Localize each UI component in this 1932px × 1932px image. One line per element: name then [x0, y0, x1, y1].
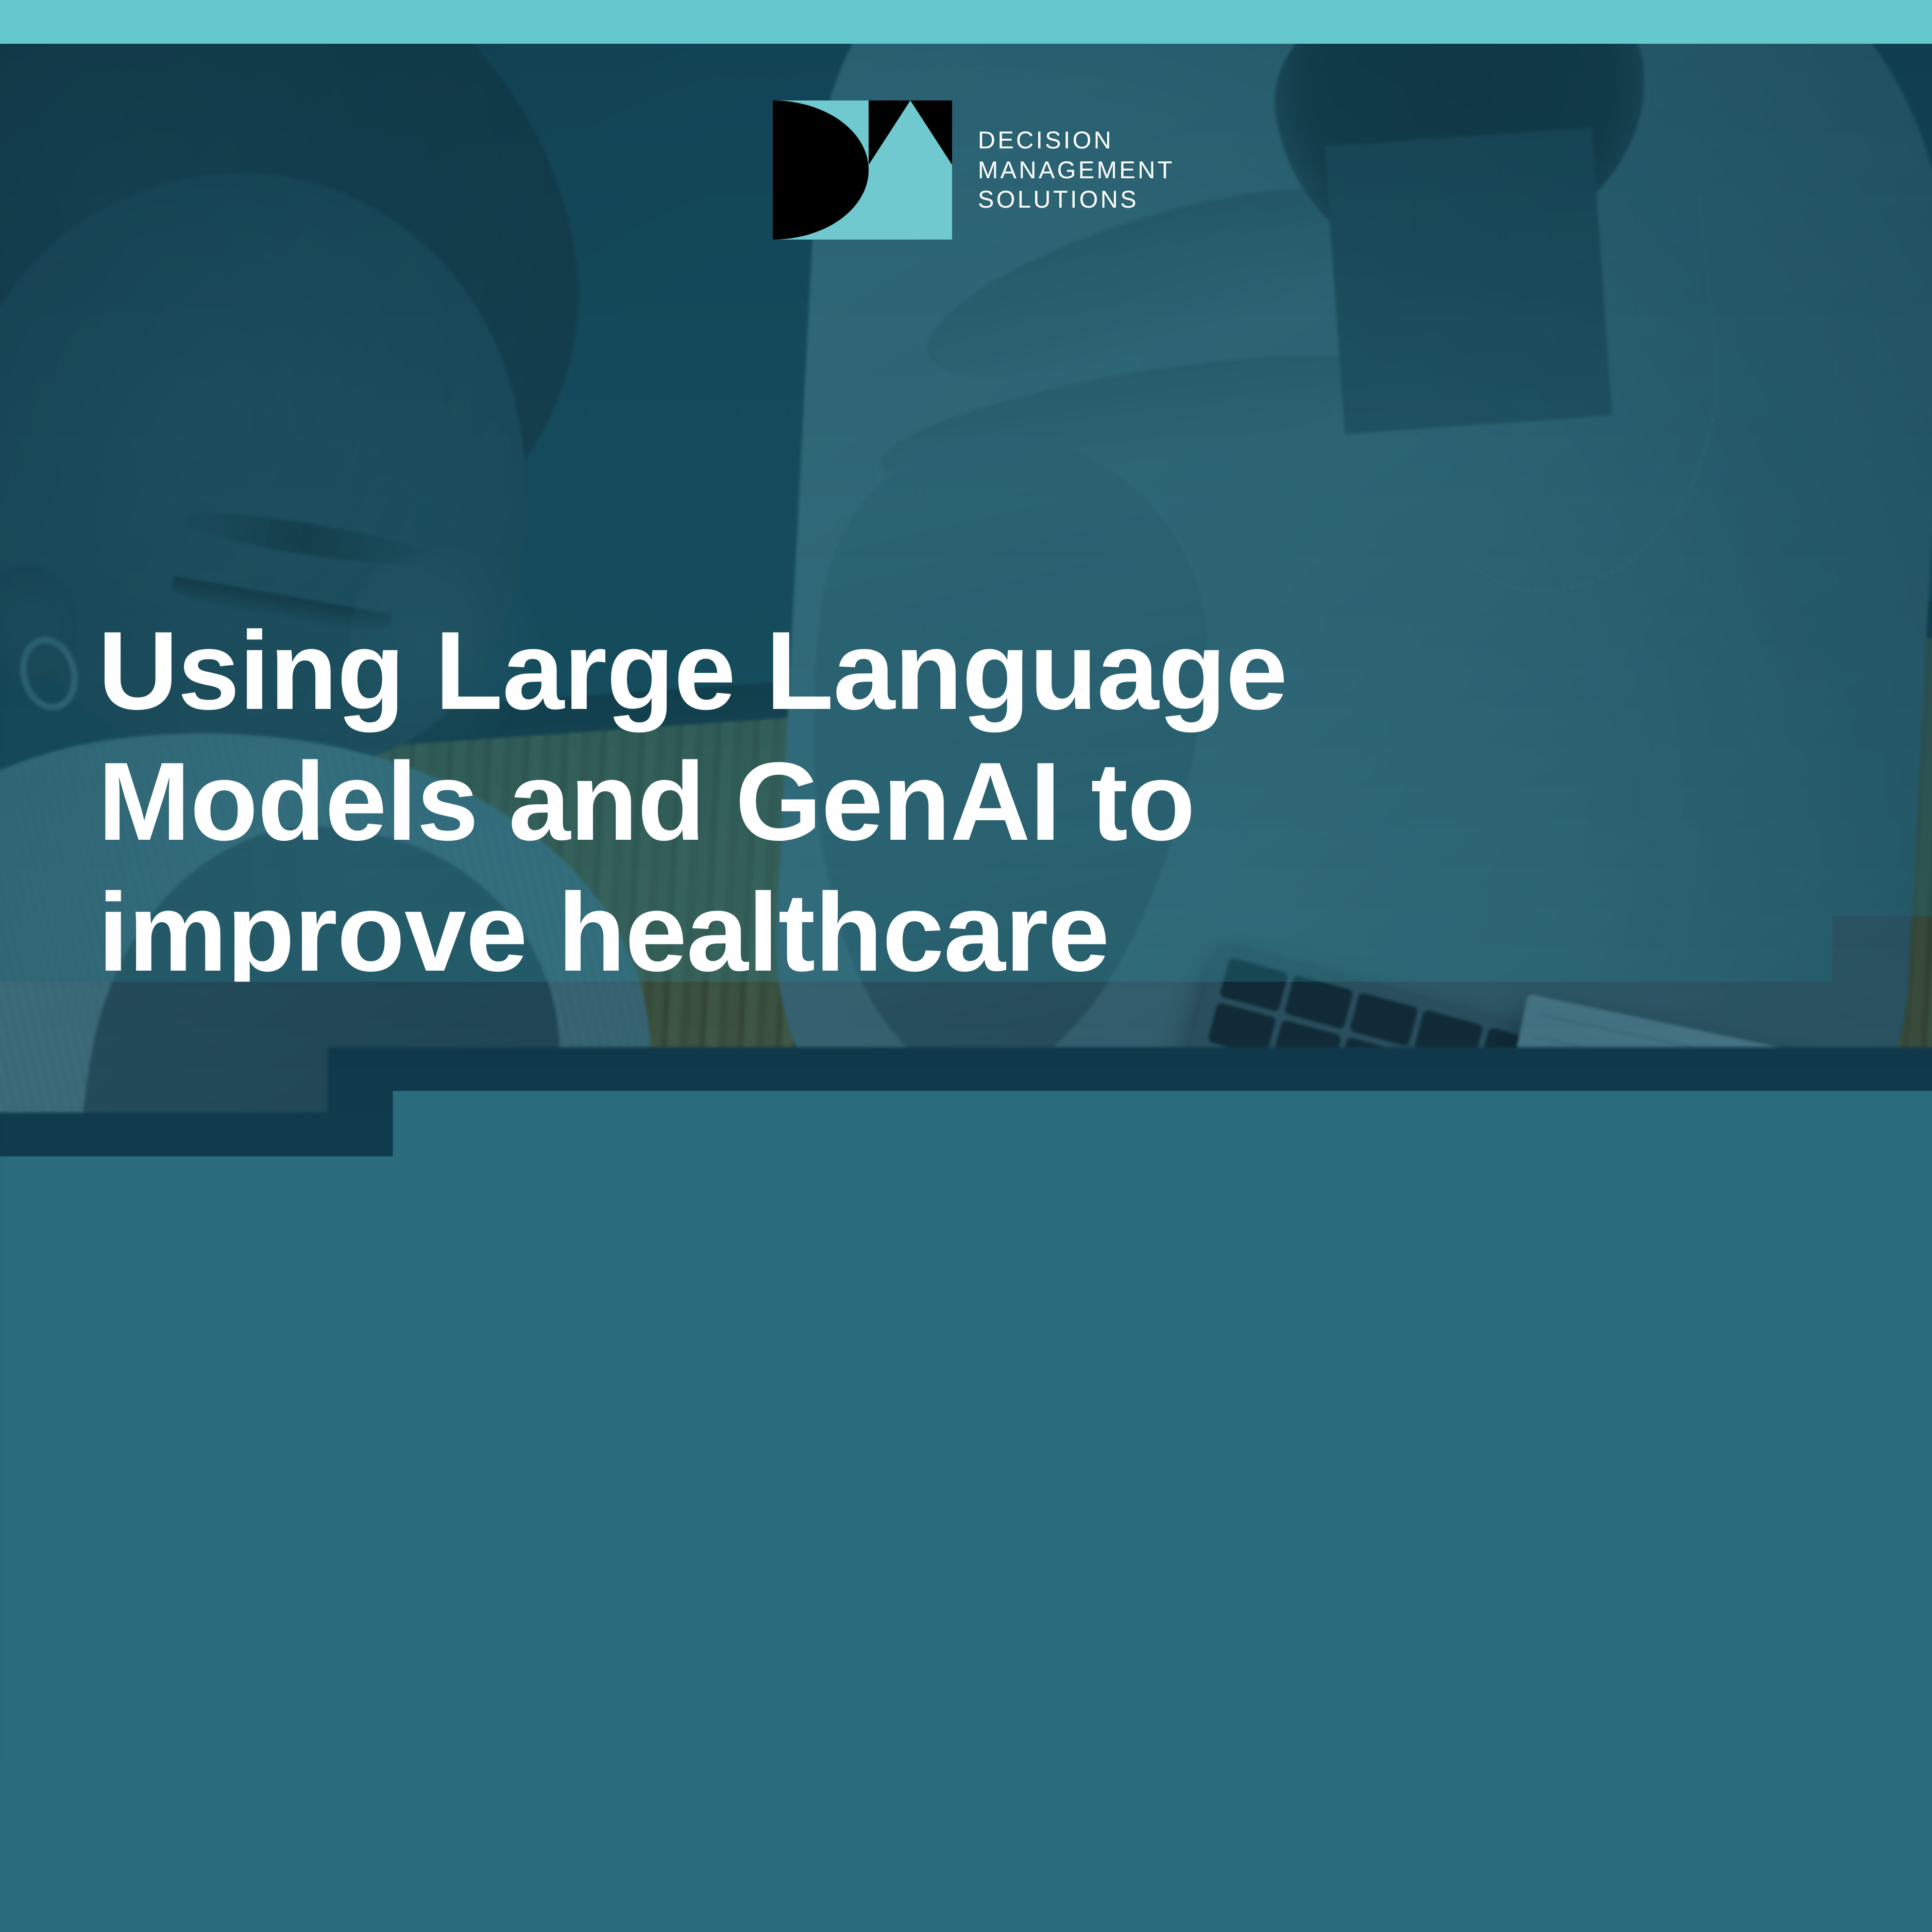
headline-line-4: communications - internally — [98, 997, 1860, 1128]
headline-line-1: Using Large Language — [98, 605, 1860, 736]
top-accent-band — [0, 0, 1932, 44]
logo-word-line-2: MANAGEMENT — [978, 158, 1175, 183]
social-graphic-canvas: THE DECISION AUTOMATION EXPERTS DECISION… — [0, 0, 1932, 1932]
headline-line-3: improve healthcare — [98, 867, 1860, 998]
logo-v-shape — [869, 100, 952, 165]
logo-d-shape — [773, 100, 869, 240]
tagline: THE DECISION AUTOMATION EXPERTS — [174, 1827, 1758, 1875]
headline-line-2: Models and GenAI to — [98, 736, 1860, 867]
dm-monogram-icon — [773, 100, 952, 240]
page-title: Using Large Language Models and GenAI to… — [98, 605, 1860, 1259]
logo-wordmark: DECISION MANAGEMENT SOLUTIONS — [978, 128, 1175, 213]
logo-word-line-1: DECISION — [978, 128, 1175, 153]
logo-word-line-3: SOLUTIONS — [978, 187, 1175, 212]
headline-line-5: and externally. — [98, 1128, 1860, 1259]
brand-logo: DECISION MANAGEMENT SOLUTIONS — [773, 100, 1175, 240]
